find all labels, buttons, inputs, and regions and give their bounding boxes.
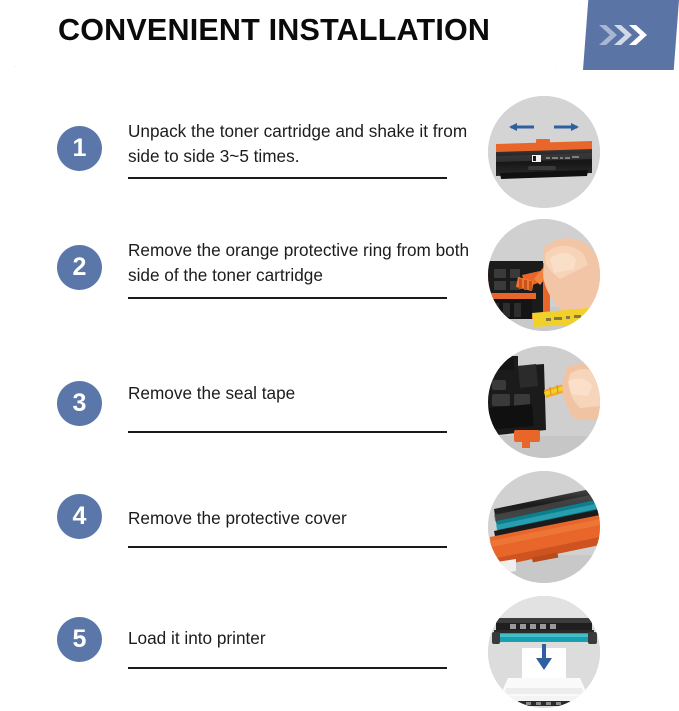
step-description: Remove the protective cover — [128, 506, 473, 531]
step-divider — [128, 667, 447, 669]
step-divider — [128, 431, 447, 433]
toner-cartridge-shake-photo — [488, 96, 600, 208]
step-divider — [128, 297, 447, 299]
header-banner: CONVENIENT INSTALLATION — [0, 0, 679, 78]
step-number-badge: 3 — [57, 381, 102, 426]
step-number-badge: 1 — [57, 126, 102, 171]
step-number-badge: 4 — [57, 494, 102, 539]
step-divider — [128, 177, 447, 179]
remove-orange-ring-photo — [488, 219, 600, 331]
step-description: Load it into printer — [128, 626, 473, 651]
triple-chevron-right-icon — [597, 24, 657, 46]
page-title: CONVENIENT INSTALLATION — [58, 13, 558, 48]
step-number-badge: 5 — [57, 617, 102, 662]
step-divider — [128, 546, 447, 548]
step-description: Remove the orange protective ring from b… — [128, 238, 473, 288]
remove-seal-tape-photo — [488, 346, 600, 458]
step-description: Unpack the toner cartridge and shake it … — [128, 119, 473, 169]
banner-top-edge — [14, 0, 584, 3]
step-number-badge: 2 — [57, 245, 102, 290]
remove-protective-cover-photo — [488, 471, 600, 583]
step-description: Remove the seal tape — [128, 381, 473, 406]
load-into-printer-photo — [488, 596, 600, 708]
